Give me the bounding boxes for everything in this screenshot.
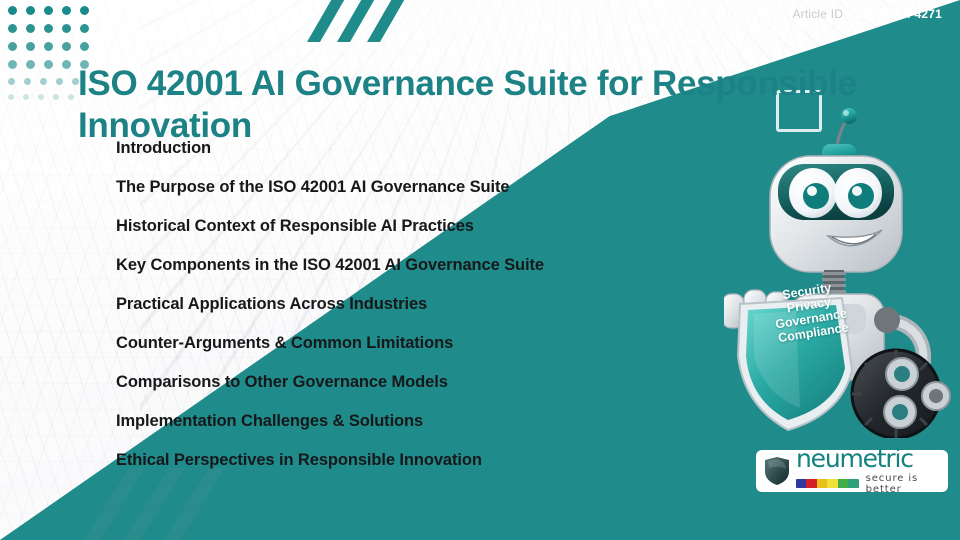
dot bbox=[24, 78, 31, 85]
agenda-item-5[interactable]: Practical Applications Across Industries bbox=[116, 296, 756, 313]
dot bbox=[23, 94, 29, 100]
logo-text-block: neumetric secure is better bbox=[796, 447, 940, 495]
agenda-item-7[interactable]: Comparisons to Other Governance Models bbox=[116, 374, 756, 391]
article-id: Article ID N2511MCA-4271 bbox=[792, 7, 942, 21]
dot bbox=[8, 24, 17, 33]
logo-color-bar bbox=[838, 479, 848, 488]
dot bbox=[26, 24, 35, 33]
dot bbox=[80, 42, 89, 51]
robot-mascot bbox=[724, 108, 960, 438]
dot bbox=[56, 78, 63, 85]
dot bbox=[44, 6, 53, 15]
dot bbox=[80, 6, 89, 15]
agenda-item-3[interactable]: Historical Context of Responsible AI Pra… bbox=[116, 218, 756, 235]
dot bbox=[68, 94, 74, 100]
robot-mascot-illustration bbox=[724, 108, 960, 438]
logo-color-bar bbox=[827, 479, 837, 488]
logo-color-bar bbox=[796, 479, 806, 488]
dot bbox=[44, 42, 53, 51]
logo-color-bars bbox=[796, 479, 859, 488]
diagonal-stripes-top bbox=[318, 0, 438, 42]
dot bbox=[8, 78, 15, 85]
dot bbox=[53, 94, 59, 100]
agenda-item-6[interactable]: Counter-Arguments & Common Limitations bbox=[116, 335, 756, 352]
logo-bottom-row: secure is better bbox=[796, 473, 940, 495]
agenda-list: Introduction The Purpose of the ISO 4200… bbox=[116, 140, 756, 491]
agenda-item-1[interactable]: Introduction bbox=[116, 140, 756, 157]
dot bbox=[80, 24, 89, 33]
shield-icon bbox=[764, 456, 790, 486]
dot bbox=[8, 60, 17, 69]
dot bbox=[8, 42, 17, 51]
logo-color-bar bbox=[848, 479, 858, 488]
logo-tagline: secure is better bbox=[866, 473, 940, 495]
dot bbox=[62, 60, 71, 69]
dot bbox=[26, 6, 35, 15]
slide: Article ID N2511MCA-4271 ISO 42001 AI Go… bbox=[0, 0, 960, 540]
neumetric-logo[interactable]: neumetric secure is better bbox=[756, 450, 948, 492]
dot bbox=[26, 60, 35, 69]
logo-color-bar bbox=[806, 479, 816, 488]
dot bbox=[62, 6, 71, 15]
article-id-value: N2511MCA-4271 bbox=[847, 7, 942, 21]
dot bbox=[38, 94, 44, 100]
logo-wordmark: neumetric bbox=[796, 447, 940, 471]
dot bbox=[8, 6, 17, 15]
article-id-label: Article ID bbox=[792, 7, 843, 21]
agenda-item-8[interactable]: Implementation Challenges & Solutions bbox=[116, 413, 756, 430]
dot bbox=[40, 78, 47, 85]
dot bbox=[26, 42, 35, 51]
dot bbox=[62, 24, 71, 33]
dot bbox=[44, 24, 53, 33]
agenda-item-9[interactable]: Ethical Perspectives in Responsible Inno… bbox=[116, 452, 756, 469]
agenda-item-4[interactable]: Key Components in the ISO 42001 AI Gover… bbox=[116, 257, 756, 274]
dot bbox=[8, 94, 14, 100]
dot bbox=[44, 60, 53, 69]
agenda-item-2[interactable]: The Purpose of the ISO 42001 AI Governan… bbox=[116, 179, 756, 196]
dot bbox=[62, 42, 71, 51]
logo-color-bar bbox=[817, 479, 827, 488]
